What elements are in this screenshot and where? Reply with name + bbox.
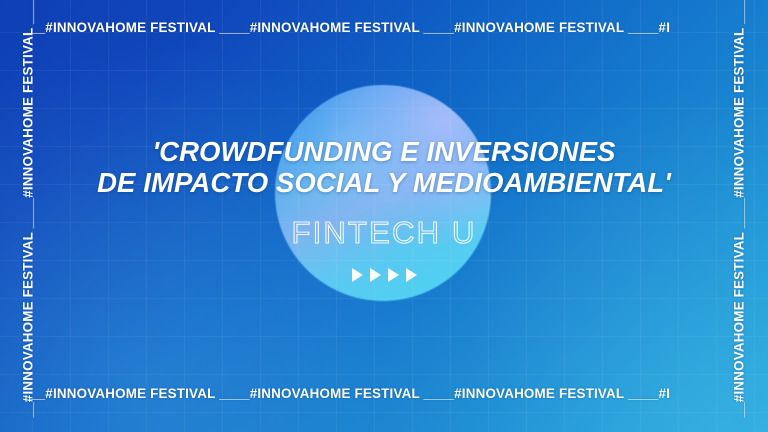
play-triangle-icon <box>352 268 363 282</box>
slide-canvas: __#INNOVAHOME FESTIVAL ____#INNOVAHOME F… <box>0 0 768 432</box>
slide-title-line-1: 'CROWDFUNDING E INVERSIONES <box>152 136 615 167</box>
slide-subtitle: FINTECH U <box>291 215 476 251</box>
slide-content: 'CROWDFUNDING E INVERSIONES DE IMPACTO S… <box>0 0 768 432</box>
play-triangle-icon <box>370 268 381 282</box>
arrow-row <box>352 268 417 282</box>
play-triangle-icon <box>406 268 417 282</box>
play-triangle-icon <box>388 268 399 282</box>
slide-title-line-2: DE IMPACTO SOCIAL Y MEDIOAMBIENTAL' <box>97 167 671 198</box>
